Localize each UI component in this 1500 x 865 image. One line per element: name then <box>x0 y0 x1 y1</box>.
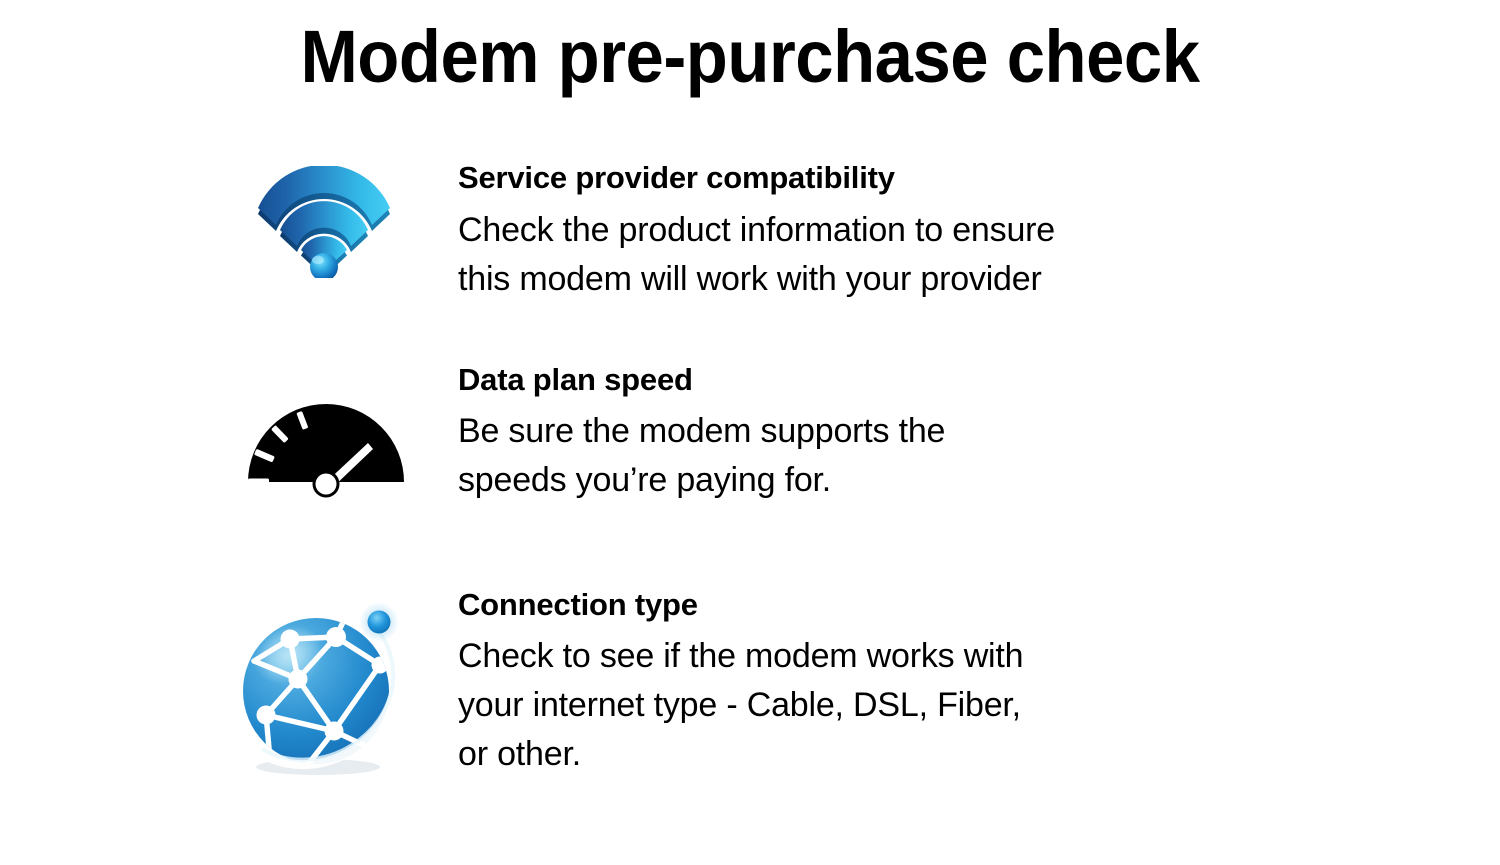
speedometer-gauge-icon <box>242 386 410 498</box>
section-body-service-provider: Check the product information to ensure … <box>458 206 1055 304</box>
text-cell-service-provider: Service provider compatibility Check the… <box>458 158 1055 304</box>
globe-network-icon <box>230 591 410 777</box>
text-cell-connection-type: Connection type Check to see if the mode… <box>458 585 1023 779</box>
section-heading-service-provider: Service provider compatibility <box>458 158 1055 206</box>
section-heading-data-plan-speed: Data plan speed <box>458 360 945 407</box>
icon-cell-connection-type <box>222 585 458 785</box>
text-cell-data-plan-speed: Data plan speed Be sure the modem suppor… <box>458 360 945 505</box>
check-item-data-plan-speed: Data plan speed Be sure the modem suppor… <box>232 360 945 510</box>
section-body-connection-type: Check to see if the modem works with you… <box>458 632 1023 779</box>
icon-cell-data-plan-speed <box>232 360 458 510</box>
check-item-connection-type: Connection type Check to see if the mode… <box>222 585 1023 785</box>
wifi-signal-icon <box>254 166 394 278</box>
section-body-data-plan-speed: Be sure the modem supports the speeds yo… <box>458 407 945 505</box>
page-title: Modem pre-purchase check <box>53 14 1448 100</box>
section-heading-connection-type: Connection type <box>458 585 1023 632</box>
check-item-service-provider: Service provider compatibility Check the… <box>232 158 1055 304</box>
icon-cell-service-provider <box>232 158 458 288</box>
